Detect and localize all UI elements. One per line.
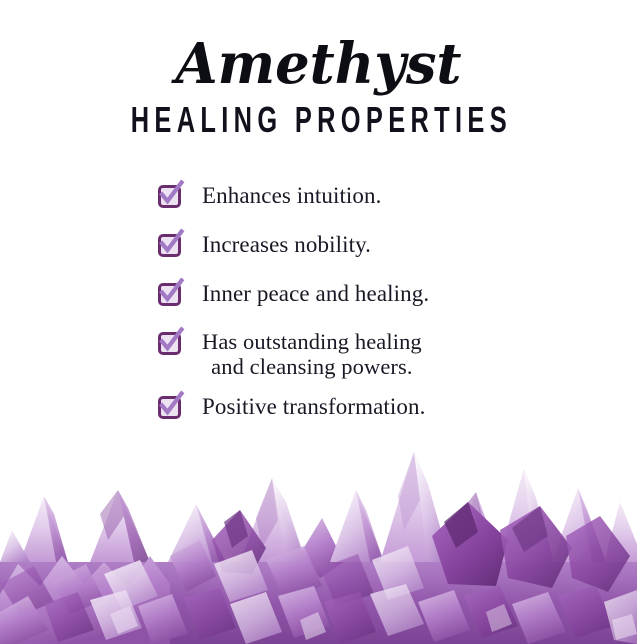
- checkbox-checked-icon: [158, 185, 181, 208]
- healing-properties-list: Enhances intuition. Increases nobility. …: [0, 182, 637, 442]
- header: Amethyst HEALING PROPERTIES: [0, 0, 637, 134]
- list-item-label: Positive transformation.: [202, 393, 425, 420]
- page-subtitle: HEALING PROPERTIES: [57, 100, 579, 140]
- list-item: Enhances intuition.: [0, 182, 637, 209]
- amethyst-crystal-cluster-image: [0, 444, 637, 644]
- checkbox-checked-icon: [158, 396, 181, 419]
- checkbox-checked-icon: [158, 332, 181, 355]
- list-item: Has outstanding healing and cleansing po…: [0, 329, 637, 379]
- list-item-label: Has outstanding healing and cleansing po…: [202, 329, 422, 379]
- checkbox-checked-icon: [158, 283, 181, 306]
- list-item: Inner peace and healing.: [0, 280, 637, 307]
- page-title: Amethyst: [10, 34, 628, 94]
- poster-canvas: Amethyst HEALING PROPERTIES Enhances int…: [0, 0, 637, 644]
- list-item-label: Enhances intuition.: [202, 182, 381, 209]
- list-item: Positive transformation.: [0, 393, 637, 420]
- checkbox-checked-icon: [158, 234, 181, 257]
- list-item-label: Inner peace and healing.: [202, 280, 429, 307]
- list-item: Increases nobility.: [0, 231, 637, 258]
- list-item-label: Increases nobility.: [202, 231, 371, 258]
